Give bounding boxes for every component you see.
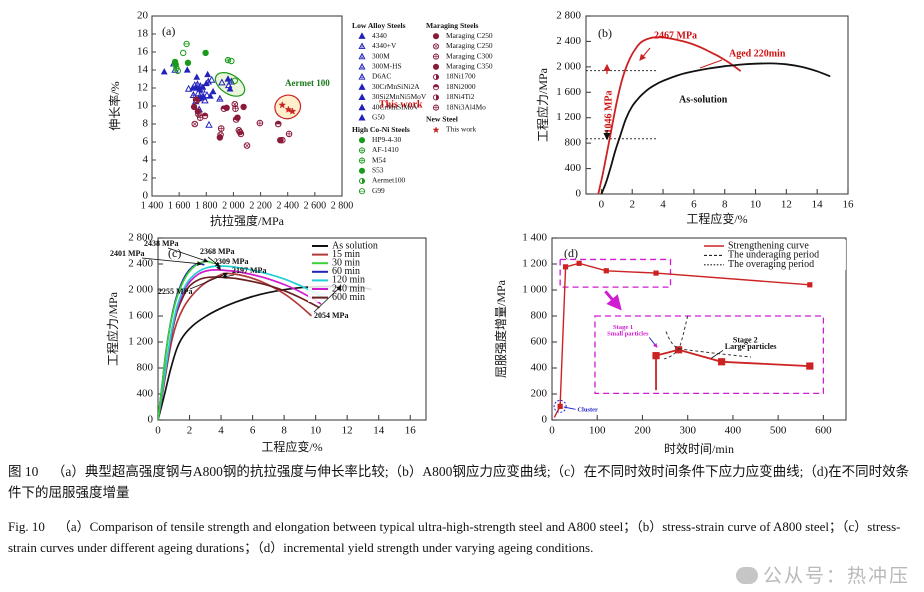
panel-b-ylabel: 工程应力/MPa (535, 67, 550, 142)
svg-text:10: 10 (310, 425, 322, 437)
svg-text:12: 12 (137, 82, 148, 94)
figure-panels: 02468101214161820 1 4001 6001 8002 0002 … (0, 0, 924, 470)
svg-text:2: 2 (629, 199, 635, 211)
svg-text:2368 MPa: 2368 MPa (200, 247, 234, 256)
caption-chinese: 图 10 （a）典型超高强度钢与A800钢的抗拉强度与伸长率比较;（b）A800… (8, 462, 918, 504)
svg-text:12: 12 (342, 425, 353, 437)
panel-d-x-axis: 0100200300400500600 (549, 415, 832, 437)
svg-text:4: 4 (143, 154, 149, 166)
svg-text:2: 2 (187, 425, 193, 437)
svg-text:6: 6 (250, 425, 256, 437)
panel-b: 04008001 2001 6002 0002 4002 800 0246810… (524, 8, 916, 230)
svg-text:M54: M54 (372, 155, 386, 164)
svg-text:0: 0 (599, 199, 605, 211)
panel-d-plot: Cluster[object Object]Stage 1Small parti… (554, 259, 823, 417)
panel-c-xlabel: 工程应变/% (261, 439, 322, 454)
svg-text:16: 16 (405, 425, 417, 437)
svg-text:Maraging C250: Maraging C250 (446, 41, 493, 50)
panel-a-highlights (211, 68, 303, 122)
svg-text:Maraging Steels: Maraging Steels (426, 21, 479, 30)
svg-text:8: 8 (722, 199, 728, 211)
svg-text:800: 800 (137, 362, 154, 374)
svg-text:10: 10 (137, 100, 149, 112)
svg-text:G50: G50 (372, 113, 385, 122)
svg-text:2 200: 2 200 (249, 200, 271, 211)
svg-text:14: 14 (812, 199, 824, 211)
svg-text:600: 600 (815, 425, 832, 437)
svg-text:1 000: 1 000 (522, 284, 547, 296)
svg-text:40CrMnSiMoV: 40CrMnSiMoV (372, 102, 419, 111)
panel-d: 02004006008001 0001 2001 400 01002003004… (486, 232, 916, 468)
svg-text:Low Alloy Steels: Low Alloy Steels (352, 21, 406, 30)
panel-b-x-axis: 0246810121416 (599, 189, 854, 211)
svg-text:High Co-Ni Steels: High Co-Ni Steels (352, 125, 410, 134)
svg-text:2 000: 2 000 (128, 284, 153, 296)
svg-text:Small particles: Small particles (607, 331, 649, 338)
svg-text:30Si2MnNi5MoV: 30Si2MnNi5MoV (372, 92, 427, 101)
panel-a-plot-area (161, 41, 303, 148)
svg-text:1 400: 1 400 (141, 200, 164, 211)
panel-b-annotation-1046: 1046 MPa (603, 90, 614, 133)
panel-d-ylabel: 屈服强度增量/MPa (493, 279, 508, 378)
watermark-text: 公从号：热冲压 (763, 565, 910, 587)
svg-text:HP9-4-30: HP9-4-30 (372, 135, 401, 144)
svg-text:Maraging C300: Maraging C300 (446, 51, 493, 60)
svg-text:4340+V: 4340+V (372, 41, 397, 50)
svg-text:2 400: 2 400 (556, 35, 581, 47)
svg-text:1 200: 1 200 (522, 258, 547, 270)
panel-b-annotation-assolution: As-solution (679, 94, 728, 105)
svg-text:0: 0 (542, 414, 548, 426)
panel-d-legend: Strengthening curveThe underaging period… (700, 240, 846, 270)
svg-text:4: 4 (218, 425, 224, 437)
panel-a-y-axis: 02468101214161820 (137, 10, 156, 202)
panel-c-x-axis: 0246810121416 (155, 415, 416, 437)
svg-text:2438 MPa: 2438 MPa (144, 239, 178, 248)
svg-text:600 min: 600 min (332, 292, 365, 303)
svg-text:1 600: 1 600 (168, 200, 191, 211)
svg-text:300M: 300M (372, 51, 390, 60)
svg-text:Aermet100: Aermet100 (372, 176, 406, 185)
svg-text:2 000: 2 000 (222, 200, 245, 211)
svg-text:This work: This work (446, 125, 476, 134)
panel-a-xlabel: 抗拉强度/MPa (210, 213, 285, 228)
svg-text:300M-HS: 300M-HS (372, 62, 402, 71)
svg-text:18Ni3Al4Mo: 18Ni3Al4Mo (446, 102, 486, 111)
panel-b-annotation-aged: Aged 220min (729, 48, 786, 59)
svg-text:18Ni4Ti2: 18Ni4Ti2 (446, 92, 475, 101)
svg-text:400: 400 (725, 425, 742, 437)
svg-text:2 800: 2 800 (331, 200, 354, 211)
svg-text:New Steel: New Steel (426, 115, 458, 124)
svg-text:20: 20 (137, 10, 149, 22)
panel-a-x-axis: 1 4001 6001 8002 0002 2002 4002 6002 800 (141, 192, 354, 211)
svg-text:200: 200 (634, 425, 651, 437)
panel-a-annotation-aermet: Aermet 100 (285, 78, 330, 88)
svg-text:800: 800 (531, 310, 548, 322)
svg-text:1 400: 1 400 (522, 232, 547, 244)
svg-text:1 200: 1 200 (556, 111, 581, 123)
svg-text:4: 4 (660, 199, 666, 211)
svg-text:Large particles: Large particles (725, 342, 777, 351)
panel-c-label: (c) (168, 246, 181, 260)
svg-text:2 800: 2 800 (556, 10, 581, 22)
svg-text:14: 14 (373, 425, 385, 437)
svg-text:2054 MPa: 2054 MPa (314, 311, 348, 320)
svg-text:Maraging C350: Maraging C350 (446, 62, 493, 71)
svg-text:18: 18 (137, 28, 149, 40)
svg-text:6: 6 (691, 199, 697, 211)
svg-text:10: 10 (750, 199, 762, 211)
svg-text:400: 400 (565, 162, 582, 174)
svg-text:0: 0 (549, 425, 555, 437)
panel-a-label: (a) (162, 24, 175, 38)
svg-text:1 800: 1 800 (195, 200, 218, 211)
svg-text:0: 0 (155, 425, 161, 437)
svg-text:2309 MPa: 2309 MPa (214, 257, 248, 266)
svg-text:12: 12 (781, 199, 792, 211)
panel-d-label: (d) (564, 246, 578, 260)
panel-b-xlabel: 工程应变/% (686, 211, 747, 226)
svg-text:18Ni2000: 18Ni2000 (446, 82, 476, 91)
svg-text:The overaging period: The overaging period (728, 259, 814, 270)
svg-text:G99: G99 (372, 186, 385, 195)
svg-text:400: 400 (137, 388, 154, 400)
svg-text:1 600: 1 600 (128, 310, 153, 322)
panel-c-ylabel: 工程应力/MPa (105, 291, 120, 366)
svg-text:16: 16 (843, 199, 855, 211)
svg-text:8: 8 (143, 118, 149, 130)
panel-a: 02468101214161820 1 4001 6001 8002 0002 … (96, 8, 526, 230)
panel-b-annotations: 2467 MPa Aged 220min 1046 MPa As-solutio… (603, 30, 786, 139)
svg-text:2197 MPa: 2197 MPa (232, 266, 266, 275)
watermark: 公从号：热冲压 (736, 561, 910, 588)
svg-text:2 400: 2 400 (276, 200, 299, 211)
panel-b-curves (598, 37, 829, 194)
svg-text:800: 800 (565, 137, 582, 149)
svg-text:2 600: 2 600 (304, 200, 327, 211)
svg-text:2 400: 2 400 (128, 258, 153, 270)
svg-text:2255 MPa: 2255 MPa (158, 287, 192, 296)
svg-text:Maraging C250: Maraging C250 (446, 31, 493, 40)
svg-text:16: 16 (137, 46, 149, 58)
svg-text:0: 0 (576, 188, 582, 200)
svg-text:AF-1410: AF-1410 (372, 145, 399, 154)
svg-text:2: 2 (143, 172, 149, 184)
svg-text:D6AC: D6AC (372, 72, 391, 81)
svg-text:8: 8 (281, 425, 287, 437)
svg-text:1 600: 1 600 (556, 86, 581, 98)
svg-text:300: 300 (679, 425, 696, 437)
svg-text:14: 14 (137, 64, 149, 76)
caption-english: Fig. 10 （a）Comparison of tensile strengt… (8, 516, 916, 558)
svg-text:6: 6 (143, 136, 149, 148)
panel-c-legend: As solution15 min30 min60 min120 min240 … (308, 240, 424, 303)
svg-text:4340: 4340 (372, 31, 387, 40)
panel-b-annotation-2467: 2467 MPa (654, 30, 697, 41)
panel-a-ylabel: 伸长率/% (107, 81, 122, 130)
panel-b-label: (b) (598, 26, 612, 40)
svg-text:2401 MPa: 2401 MPa (110, 249, 144, 258)
svg-text:30CrMnSiNi2A: 30CrMnSiNi2A (372, 82, 420, 91)
svg-text:2 000: 2 000 (556, 60, 581, 72)
svg-text:500: 500 (770, 425, 787, 437)
panel-c: 04008001 2001 6002 0002 4002 800 0246810… (96, 232, 496, 468)
svg-text:1 200: 1 200 (128, 336, 153, 348)
panel-d-xlabel: 时效时间/min (664, 441, 734, 456)
svg-text:200: 200 (531, 388, 548, 400)
svg-text:Cluster: Cluster (577, 406, 598, 413)
svg-text:0: 0 (148, 414, 154, 426)
svg-text:400: 400 (531, 362, 548, 374)
svg-text:S53: S53 (372, 166, 384, 175)
svg-text:600: 600 (531, 336, 548, 348)
svg-text:100: 100 (589, 425, 606, 437)
svg-text:18Ni1700: 18Ni1700 (446, 72, 476, 81)
